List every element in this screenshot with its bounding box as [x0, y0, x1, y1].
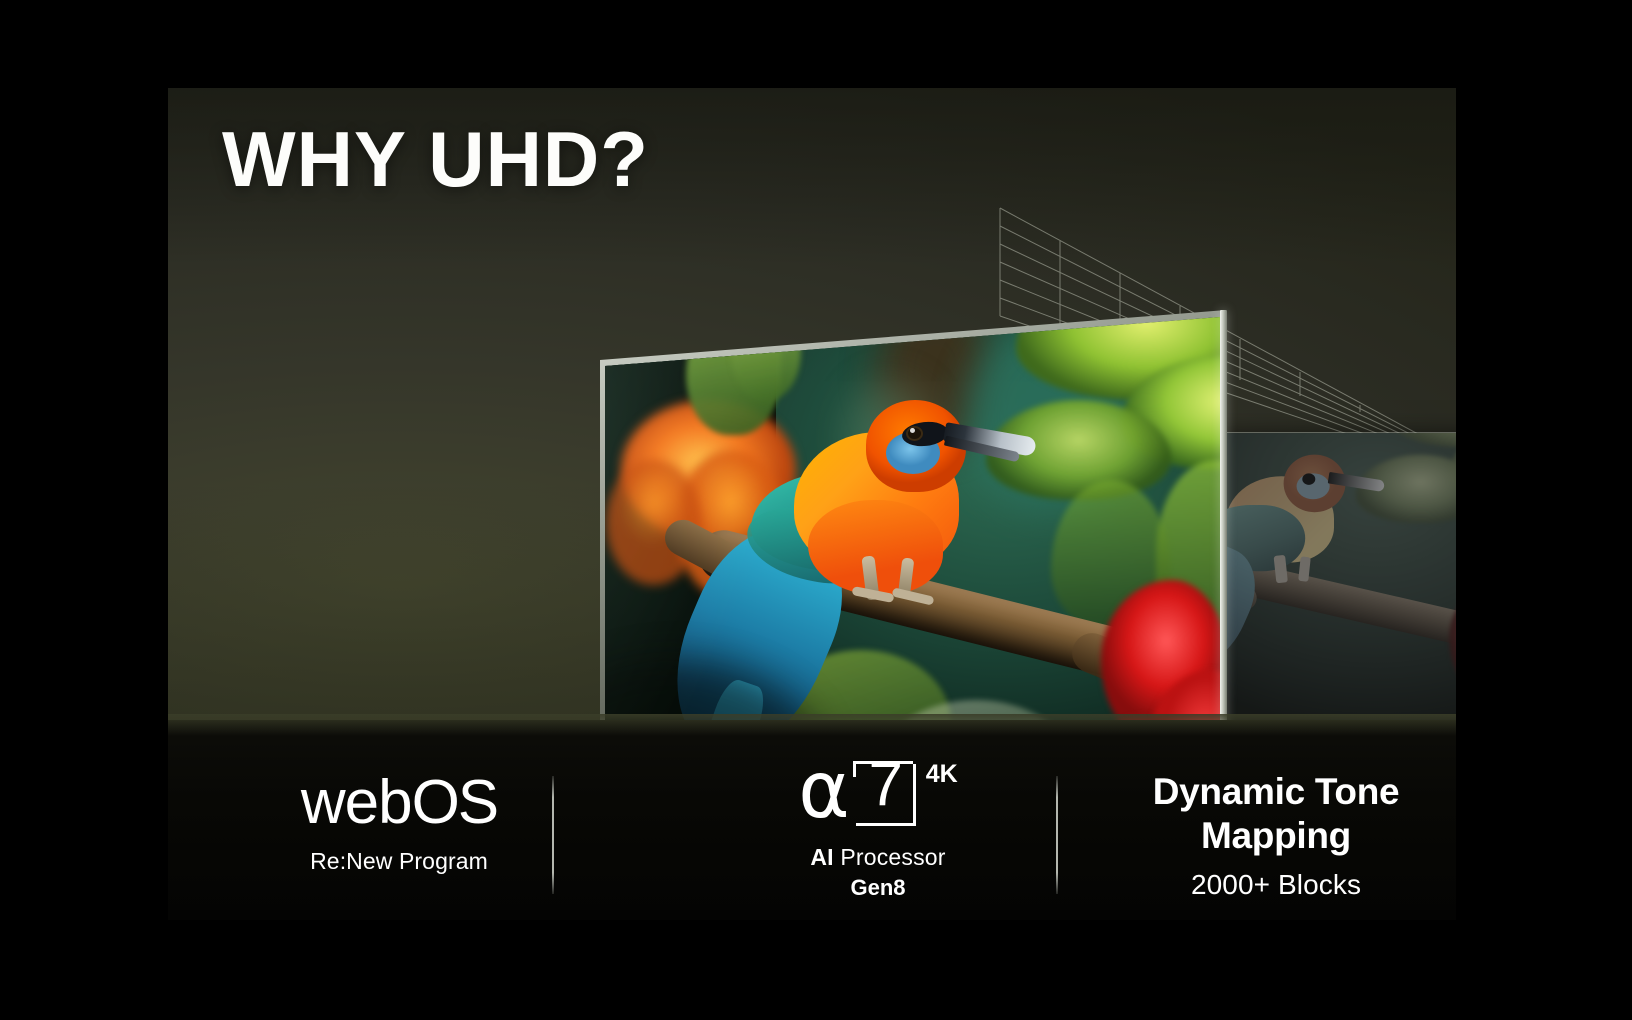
- processor-subtitle: AI Processor: [728, 844, 1028, 871]
- feature-webos: webOS Re:New Program: [254, 772, 544, 875]
- divider-1: [552, 776, 554, 894]
- tone-mapping-title-line1: Dynamic Tone: [1096, 770, 1456, 814]
- tone-mapping-subtitle: 2000+ Blocks: [1096, 869, 1456, 901]
- processor-number: 7: [856, 754, 916, 816]
- content-frame: WHY UHD?: [168, 88, 1456, 920]
- webos-logo-suffix: OS: [412, 768, 498, 837]
- feature-ai-processor: α 7 4K AI Processor Gen8: [728, 756, 1028, 901]
- page-title: WHY UHD?: [222, 120, 649, 198]
- screenshot-stage: WHY UHD?: [0, 0, 1632, 1020]
- webos-subtitle: Re:New Program: [254, 848, 544, 875]
- divider-2: [1056, 776, 1058, 894]
- processor-subtitle-rest: Processor: [840, 844, 945, 870]
- feature-dynamic-tone-mapping: Dynamic Tone Mapping 2000+ Blocks: [1096, 770, 1456, 901]
- webos-logo: webOS: [254, 772, 544, 834]
- alpha-glyph-icon: α: [798, 756, 849, 828]
- webos-logo-prefix: web: [301, 768, 412, 837]
- tone-mapping-title-line2: Mapping: [1096, 814, 1456, 858]
- processor-number-box: 7: [856, 764, 916, 826]
- processor-subtitle-bold: AI: [810, 844, 833, 870]
- feature-bar-top-fade: [168, 714, 1456, 736]
- processor-generation: Gen8: [728, 875, 1028, 901]
- feature-bar: webOS Re:New Program α 7 4K AI Processor…: [168, 720, 1456, 920]
- resolution-badge: 4K: [926, 760, 958, 789]
